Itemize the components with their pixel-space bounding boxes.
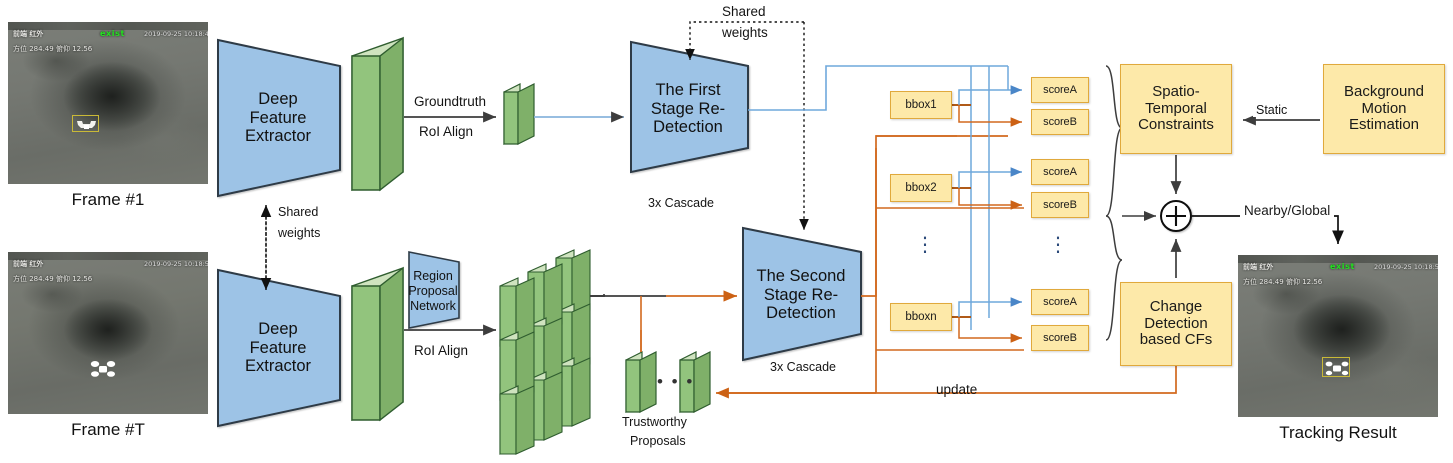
stage2-output-bus <box>861 148 876 296</box>
bbox-n[interactable]: bboxn <box>890 303 952 331</box>
frame-first-azimuth: 方位 284.49 <box>13 46 54 53</box>
spatio-temporal-constraints-box[interactable]: Spatio- Temporal Constraints <box>1120 64 1232 154</box>
frame-last-azimuth: 方位 284.49 <box>13 276 54 283</box>
frame-result-timestamp: 2019-09-25 10:18:52 <box>1374 264 1438 271</box>
score-a-1-label: scoreA <box>1043 84 1077 96</box>
change-detection-cfs-box[interactable]: Change Detection based CFs <box>1120 282 1232 366</box>
frame-first-source: 前端 红外 <box>13 31 43 38</box>
drone-glyph-3 <box>1323 358 1351 378</box>
cdcf-label: Change Detection based CFs <box>1140 299 1213 349</box>
frame-first-caption: Frame #1 <box>8 190 208 210</box>
trustworthy-ellipsis: • • • <box>657 377 694 386</box>
roi-align-top-label: RoI Align <box>419 124 473 139</box>
frame-result-thumbnail: 前端 红外 exist 2019-09-25 10:18:52 方位 284.4… <box>1238 255 1438 417</box>
feature-map-top-cube <box>352 38 403 190</box>
score-b-2[interactable]: scoreB <box>1031 192 1089 218</box>
frame-last-timestamp: 2019-09-25 10:18:52 <box>144 261 208 268</box>
trustworthy-proposals-line2: Proposals <box>630 434 686 448</box>
frame-result-azimuth: 方位 284.49 <box>1243 279 1284 286</box>
cascade-2-label: 3x Cascade <box>770 360 836 374</box>
frame-last-topstrip <box>8 252 208 260</box>
frame-last-source: 前端 红外 <box>13 261 43 268</box>
shared-weights-extractor-line1: Shared <box>278 205 318 219</box>
first-stage-redetection-shape <box>631 42 748 172</box>
bbox1-fanout-down <box>959 105 1022 122</box>
frame-first-thumbnail: 前端 红外 exist 2019-09-25 10:18:47 方位 284.4… <box>8 22 208 184</box>
frame-result-source: 前端 红外 <box>1243 264 1273 271</box>
score-b-n[interactable]: scoreB <box>1031 325 1089 351</box>
score-a-2-label: scoreA <box>1043 166 1077 178</box>
frame-result-status: exist <box>1330 263 1355 271</box>
score-b-1[interactable]: scoreB <box>1031 109 1089 135</box>
frame-result-caption: Tracking Result <box>1238 423 1438 443</box>
score-a-2[interactable]: scoreA <box>1031 159 1089 185</box>
bboxn-fanout-up <box>959 302 1022 317</box>
bbox-1-label: bbox1 <box>905 99 936 111</box>
bbox2-fanout-up <box>959 172 1022 188</box>
frame-last-elevation: 俯仰 12.56 <box>56 276 92 283</box>
cascade-1-label: 3x Cascade <box>648 196 714 210</box>
score-ellipsis: ⋮ <box>1048 240 1068 251</box>
score-a-n-label: scoreA <box>1043 296 1077 308</box>
bbox-1[interactable]: bbox1 <box>890 91 952 119</box>
score-b-2-label: scoreB <box>1043 199 1077 211</box>
stc-label: Spatio- Temporal Constraints <box>1138 84 1214 134</box>
stage1-output-bus <box>748 66 1008 110</box>
bbox-ellipsis: ⋮ <box>915 240 935 251</box>
bbox-n-label: bboxn <box>905 311 936 323</box>
frame-result-elevation: 俯仰 12.56 <box>1286 279 1322 286</box>
bbox2-fanout-down <box>959 188 1022 205</box>
feature-map-bottom-cube <box>352 268 403 420</box>
connector-layer <box>0 0 1453 463</box>
proposal-cube-grid <box>500 250 590 454</box>
drone-glyph-1 <box>73 116 100 133</box>
shared-weights-stage-line1: Shared <box>722 4 766 19</box>
bbox-2-label: bbox2 <box>905 182 936 194</box>
bbox-2[interactable]: bbox2 <box>890 174 952 202</box>
update-label: update <box>936 382 977 397</box>
frame-first-timestamp: 2019-09-25 10:18:47 <box>144 31 208 38</box>
shared-weights-stage-line2: weights <box>722 25 768 40</box>
score-a-n[interactable]: scoreA <box>1031 289 1089 315</box>
deep-feature-extractor-top-shape <box>218 40 340 196</box>
score-b-n-label: scoreB <box>1043 332 1077 344</box>
second-stage-redetection-shape <box>743 228 861 360</box>
score-b-1-label: scoreB <box>1043 116 1077 128</box>
shared-weights-extractor-line2: weights <box>278 226 320 240</box>
bboxn-fanout-down <box>959 317 1022 338</box>
diagram-canvas: 前端 红外 exist 2019-09-25 10:18:47 方位 284.4… <box>0 0 1453 463</box>
deep-feature-extractor-bottom-shape <box>218 270 340 426</box>
stage2-output-bus-up <box>876 136 1008 296</box>
bme-label: Background Motion Estimation <box>1344 84 1424 134</box>
background-motion-estimation-box[interactable]: Background Motion Estimation <box>1323 64 1445 154</box>
sum-to-result <box>1192 216 1338 244</box>
roi-align-bottom-label: RoI Align <box>414 343 468 358</box>
nearby-global-label: Nearby/Global <box>1240 203 1334 218</box>
region-proposal-network-shape <box>409 252 459 328</box>
static-label: Static <box>1253 103 1290 117</box>
frame-first-status: exist <box>100 30 125 38</box>
frame-first-target-box <box>72 115 99 132</box>
groundtruth-label: Groundtruth <box>414 94 486 109</box>
trustworthy-proposals-line1: Trustworthy <box>622 415 687 429</box>
frame-last-target <box>88 358 118 385</box>
roi-feature-cube-top <box>504 84 534 144</box>
frame-last-thumbnail: 前端 红外 2019-09-25 10:18:52 方位 284.49 俯仰 1… <box>8 252 208 414</box>
frame-first-elevation: 俯仰 12.56 <box>56 46 92 53</box>
score-a-1[interactable]: scoreA <box>1031 77 1089 103</box>
frame-last-caption: Frame #T <box>8 420 208 440</box>
frame-result-target-box <box>1322 357 1350 377</box>
fusion-sum-node <box>1161 201 1191 231</box>
bbox1-fanout-up <box>959 90 1022 105</box>
drone-glyph-2 <box>88 358 118 380</box>
